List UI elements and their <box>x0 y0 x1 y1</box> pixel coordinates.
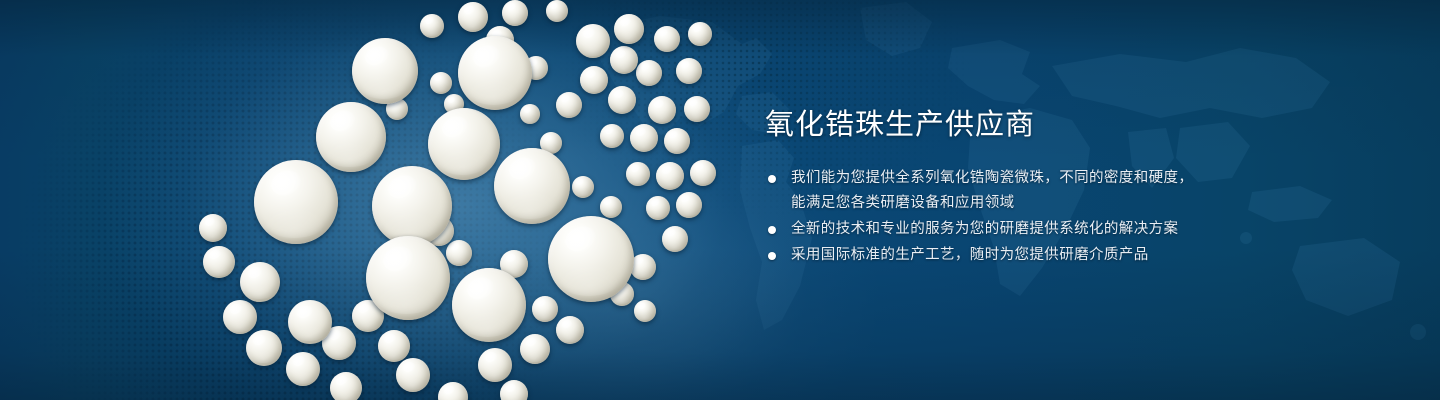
ceramic-bead <box>556 92 582 118</box>
ceramic-bead <box>502 0 528 26</box>
ceramic-bead <box>494 148 570 224</box>
ceramic-bead <box>396 358 430 392</box>
ceramic-bead <box>576 24 610 58</box>
ceramic-bead <box>546 0 568 22</box>
ceramic-bead <box>648 96 676 124</box>
ceramic-bead <box>600 124 624 148</box>
ceramic-bead <box>662 226 688 252</box>
ceramic-bead <box>438 382 468 400</box>
ceramic-bead <box>458 2 488 32</box>
ceramic-bead <box>520 104 540 124</box>
ceramic-bead <box>330 372 362 400</box>
list-item-line-1: 全新的技术和专业的服务为您的研磨提供系统化的解决方案 <box>791 221 1178 237</box>
ceramic-bead <box>372 166 452 246</box>
ceramic-bead <box>352 38 418 104</box>
list-item-line-1: 我们能为您提供全系列氧化锆陶瓷微珠，不同的密度和硬度， <box>791 170 1193 186</box>
ceramic-bead <box>626 162 650 186</box>
list-item: 全新的技术和专业的服务为您的研磨提供系统化的解决方案 <box>765 217 1395 242</box>
ceramic-bead <box>254 160 338 244</box>
ceramic-bead <box>366 236 450 320</box>
ceramic-bead <box>520 334 550 364</box>
ceramic-bead <box>608 86 636 114</box>
ceramic-bead <box>203 246 235 278</box>
ceramic-bead <box>288 300 332 344</box>
list-item: 采用国际标准的生产工艺，随时为您提供研磨介质产品 <box>765 243 1395 268</box>
ceramic-bead <box>688 22 712 46</box>
ceramic-bead <box>630 124 658 152</box>
ceramic-bead <box>684 96 710 122</box>
ceramic-bead <box>420 14 444 38</box>
ceramic-bead <box>690 160 716 186</box>
feature-list: 我们能为您提供全系列氧化锆陶瓷微珠，不同的密度和硬度， 能满足您各类研磨设备和应… <box>765 166 1395 268</box>
ceramic-bead <box>316 102 386 172</box>
ceramic-bead <box>532 296 558 322</box>
ceramic-bead <box>676 58 702 84</box>
banner-copy: 氧化锆珠生产供应商 我们能为您提供全系列氧化锆陶瓷微珠，不同的密度和硬度， 能满… <box>765 106 1395 269</box>
ceramic-bead <box>556 316 584 344</box>
ceramic-bead <box>656 162 684 190</box>
ceramic-bead <box>378 330 410 362</box>
ceramic-bead <box>610 46 638 74</box>
bullet-dot-icon <box>768 226 776 234</box>
bullet-dot-icon <box>768 252 776 260</box>
bullet-dot-icon <box>768 175 776 183</box>
ceramic-bead <box>286 352 320 386</box>
ceramic-bead <box>240 262 280 302</box>
ceramic-bead <box>634 300 656 322</box>
ceramic-bead <box>428 108 500 180</box>
ceramic-bead <box>614 14 644 44</box>
list-item-line-2: 能满足您各类研磨设备和应用领域 <box>791 191 1395 216</box>
list-item-line-1: 采用国际标准的生产工艺，随时为您提供研磨介质产品 <box>791 247 1149 263</box>
ceramic-bead <box>654 26 680 52</box>
ceramic-bead <box>646 196 670 220</box>
ceramic-bead <box>430 72 452 94</box>
ceramic-bead <box>500 380 528 400</box>
ceramic-bead <box>199 214 227 242</box>
ceramic-bead <box>664 128 690 154</box>
ceramic-bead <box>223 300 257 334</box>
hero-banner: 氧化锆珠生产供应商 我们能为您提供全系列氧化锆陶瓷微珠，不同的密度和硬度， 能满… <box>0 0 1440 400</box>
ceramic-bead <box>458 36 532 110</box>
ceramic-bead <box>636 60 662 86</box>
list-item: 我们能为您提供全系列氧化锆陶瓷微珠，不同的密度和硬度， 能满足您各类研磨设备和应… <box>765 166 1395 216</box>
ceramic-bead <box>548 216 634 302</box>
ceramic-bead <box>478 348 512 382</box>
ceramic-bead <box>600 196 622 218</box>
ceramic-bead <box>580 66 608 94</box>
ceramic-bead <box>452 268 526 342</box>
ceramic-bead <box>246 330 282 366</box>
ceramic-bead <box>446 240 472 266</box>
ceramic-bead <box>572 176 594 198</box>
ceramic-bead <box>676 192 702 218</box>
page-title: 氧化锆珠生产供应商 <box>765 106 1395 144</box>
